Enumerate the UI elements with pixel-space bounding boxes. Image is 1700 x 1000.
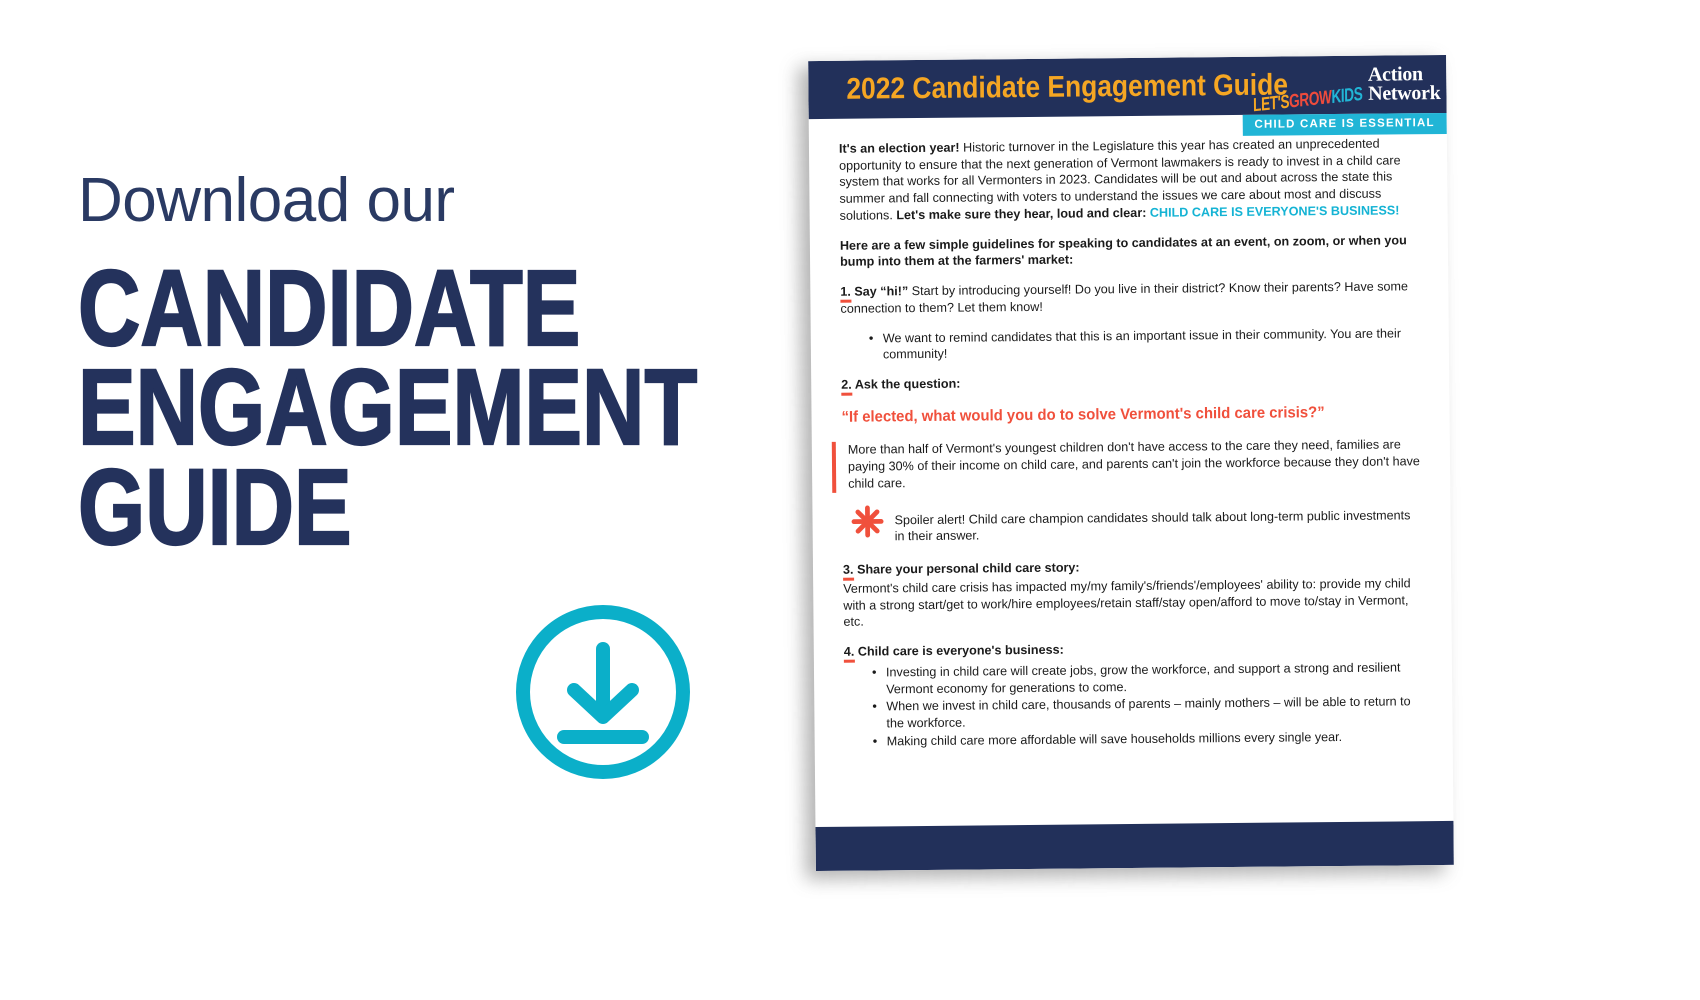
lets-grow-kids-action-network-logo: LET'SGROWKIDS ActionNetwork [1240, 65, 1440, 105]
document-title: 2022 Candidate Engagement Guide [846, 68, 1288, 106]
section-1-paragraph: 1. Say “hi!” Start by introducing yourse… [840, 278, 1418, 317]
spoiler-alert-text: Spoiler alert! Child care champion candi… [894, 503, 1420, 546]
document-preview-card[interactable]: 2022 Candidate Engagement Guide LET'SGRO… [808, 55, 1454, 871]
red-question-quote: “If elected, what would you do to solve … [841, 402, 1396, 428]
section-3-body: Vermont's child care crisis has impacted… [843, 575, 1421, 631]
asterisk-starburst-icon [850, 504, 884, 543]
promo-column: Download our CANDIDATE ENGAGEMENT GUIDE [78, 170, 758, 556]
section-1-body: Start by introducing yourself! Do you li… [840, 279, 1408, 315]
section-4-title: Child care is everyone's business: [854, 643, 1064, 659]
intro-cyan-tail: CHILD CARE IS EVERYONE'S BUSINESS! [1146, 203, 1399, 219]
list-item: We want to remind candidates that this i… [871, 325, 1419, 364]
section-2-title: Ask the question: [852, 377, 961, 392]
logo-word-lets: LET'S [1253, 91, 1289, 116]
list-item: When we invest in child care, thousands … [874, 693, 1422, 732]
section-2-paragraph: 2. Ask the question: [841, 371, 1419, 393]
section-4-bullets: Investing in child care will create jobs… [844, 659, 1423, 750]
network-line: Network [1368, 82, 1441, 105]
statistics-callout: More than half of Vermont's youngest chi… [832, 437, 1420, 493]
document-page: 2022 Candidate Engagement Guide LET'SGRO… [808, 55, 1454, 871]
intro-lead: It's an election year! [839, 141, 960, 156]
intro-bold-tail: Let's make sure they hear, loud and clea… [896, 206, 1146, 222]
intro-paragraph: It's an election year! Historic turnover… [839, 135, 1418, 224]
logo-word-kids: KIDS [1331, 83, 1362, 107]
document-footer-bar [815, 821, 1453, 871]
promo-eyebrow: Download our [78, 170, 758, 232]
section-1-bullets: We want to remind candidates that this i… [841, 325, 1419, 364]
section-2-number: 2. [841, 378, 852, 396]
logo-word-grow: GROW [1289, 87, 1332, 113]
lets-grow-kids-wordmark: LET'SGROWKIDS [1253, 84, 1362, 115]
section-3-title: Share your personal child care story: [853, 561, 1079, 577]
document-header-bar: 2022 Candidate Engagement Guide LET'SGRO… [808, 55, 1447, 119]
promo-headline: CANDIDATE ENGAGEMENT GUIDE [78, 258, 622, 556]
callout-text: More than half of Vermont's youngest chi… [848, 438, 1420, 491]
guidelines-heading: Here are a few simple guidelines for spe… [840, 232, 1418, 271]
page-root: Download our CANDIDATE ENGAGEMENT GUIDE … [0, 0, 1700, 1000]
tagline-strip: CHILD CARE IS ESSENTIAL [1242, 113, 1447, 136]
section-4-number: 4. [844, 645, 855, 663]
section-1-title: Say “hi!” [851, 284, 909, 299]
section-4-paragraph: 4. Child care is everyone's business: [844, 638, 1422, 660]
action-network-wordmark: ActionNetwork [1368, 65, 1441, 103]
download-circle-icon[interactable] [508, 597, 698, 787]
spoiler-alert-block: Spoiler alert! Child care champion candi… [850, 503, 1420, 546]
document-body: It's an election year! Historic turnover… [809, 113, 1454, 827]
section-3-number: 3. [843, 563, 854, 581]
section-1-number: 1. [840, 285, 851, 303]
list-item: Investing in child care will create jobs… [874, 659, 1422, 698]
